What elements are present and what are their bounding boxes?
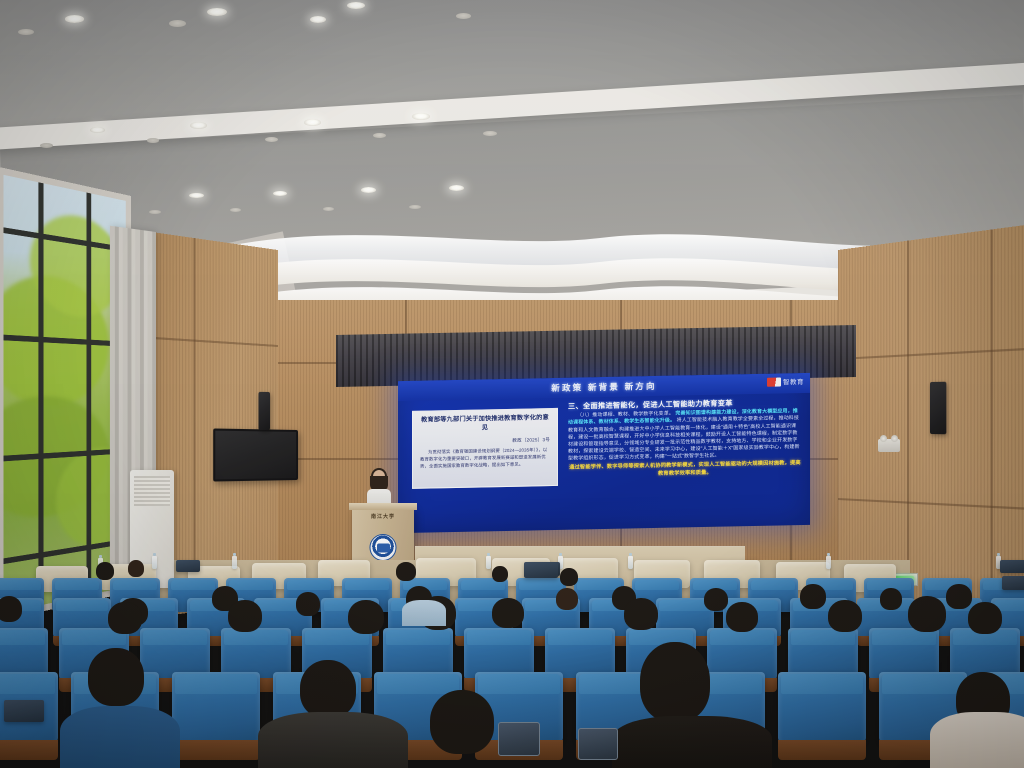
downlight-icon xyxy=(412,113,430,120)
seat-headrest xyxy=(55,580,99,590)
audience-head xyxy=(908,596,946,632)
seat-headrest xyxy=(781,674,863,694)
slide-document-card: 教育部等九部门关于加快推进教育数字化的意见 教政〔2025〕3号 为贯彻落实《教… xyxy=(412,408,558,489)
brand-mark-icon xyxy=(767,377,781,386)
downlight-icon xyxy=(323,207,334,211)
laptop xyxy=(1000,560,1024,573)
audience-head xyxy=(492,566,508,582)
downlight-icon xyxy=(169,20,186,27)
audience-head xyxy=(624,598,658,630)
podium-top xyxy=(349,503,417,510)
audience-head xyxy=(0,596,22,622)
seat-headrest xyxy=(224,630,288,645)
slide-text-column: 三、全面推进智能化，促进人工智能助力教育变革 （八）推动课程、教材、教学数字化变… xyxy=(568,397,802,524)
audience-head xyxy=(296,592,320,616)
seat-headrest xyxy=(791,630,855,645)
downlight-icon xyxy=(483,131,497,136)
seat-wood-frame xyxy=(172,740,260,760)
seat-headrest xyxy=(229,580,273,590)
audience-head xyxy=(946,584,972,609)
audience-head xyxy=(396,562,416,581)
seat-headrest xyxy=(386,630,450,645)
audience-head xyxy=(800,584,826,609)
downlight-icon xyxy=(310,16,326,23)
left-wall-speaker-icon xyxy=(259,392,270,430)
water-bottle-icon xyxy=(486,556,491,569)
university-seal-icon xyxy=(370,534,397,561)
audience-head xyxy=(430,690,494,754)
seat-headrest xyxy=(577,580,621,590)
seat-headrest xyxy=(872,630,936,645)
water-bottle-icon xyxy=(628,556,633,569)
document-title: 教育部等九部门关于加快推进教育数字化的意见 xyxy=(420,414,550,435)
audience-head xyxy=(640,642,710,722)
right-wall-speaker-icon xyxy=(930,382,946,435)
seat-headrest xyxy=(635,580,679,590)
seat-headrest xyxy=(0,580,41,590)
seat-headrest xyxy=(710,630,774,645)
audience-head xyxy=(88,648,144,706)
seat-headrest xyxy=(467,630,531,645)
laptop xyxy=(176,560,200,572)
seat-headrest xyxy=(377,674,459,694)
presentation-screen[interactable]: 新政策 新背景 新方向 智教育 教育部等九部门关于加快推进教育数字化的意见 教政… xyxy=(398,373,810,533)
audience-head xyxy=(128,560,144,577)
audience-shoulder xyxy=(930,712,1024,768)
seat-headrest xyxy=(519,580,563,590)
audience-head xyxy=(96,562,114,580)
water-bottle-icon xyxy=(826,556,831,569)
tablet-device xyxy=(498,722,540,756)
seat-headrest xyxy=(478,674,560,694)
audience-head xyxy=(726,602,758,632)
audience-head xyxy=(300,660,356,718)
seat-headrest xyxy=(345,580,389,590)
audience-head xyxy=(880,588,902,610)
section-footer-highlight: 通过智能学伴、数字导师等探索人机协同教学新模式，实现人工智能驱动的大规模因材施教… xyxy=(568,460,802,480)
audience-head xyxy=(348,600,384,634)
document-body: 为贯彻落实《教育强国建设规划纲要（2024—2035年）》，以教育数字化为重要突… xyxy=(420,447,550,470)
audience-head xyxy=(228,600,262,632)
seat-headrest xyxy=(0,674,55,694)
audience-head xyxy=(492,598,524,628)
water-bottle-icon xyxy=(152,556,157,569)
audience-head xyxy=(704,588,728,611)
banner-title: 新政策 新背景 新方向 xyxy=(551,380,656,394)
audience-shoulder xyxy=(258,712,408,768)
wall-tv-display[interactable] xyxy=(213,428,298,481)
tablet-device xyxy=(578,728,618,760)
seat-headrest xyxy=(751,580,795,590)
downlight-icon xyxy=(190,122,207,129)
downlight-icon xyxy=(456,13,471,19)
downlight-icon xyxy=(65,15,84,22)
seat-headrest xyxy=(882,674,964,694)
seat-headrest xyxy=(175,674,257,694)
seat-headrest xyxy=(56,600,108,611)
section-paragraph: （八）推动课程、教材、教学数字化变革。 完善知识图谱构建能力建设，深化教育大模型… xyxy=(568,408,802,462)
audience-shoulder xyxy=(612,716,772,768)
audience-head xyxy=(108,602,142,634)
seat-wood-frame xyxy=(778,740,866,760)
lecture-hall-photo: 新政策 新背景 新方向 智教育 教育部等九部门关于加快推进教育数字化的意见 教政… xyxy=(0,0,1024,768)
laptop xyxy=(524,562,558,578)
seat-wood-frame xyxy=(0,740,58,760)
ac-grill-icon xyxy=(134,476,170,506)
document-number: 教政〔2025〕3号 xyxy=(420,437,550,446)
audience-head xyxy=(560,568,578,586)
audience-shoulder xyxy=(60,706,180,768)
laptop xyxy=(1002,576,1024,590)
podium-nameplate: 南江大学 xyxy=(352,513,414,520)
audience-head xyxy=(968,602,1002,634)
water-bottle-icon xyxy=(232,556,237,569)
brand-logo-text: 智教育 xyxy=(783,376,804,386)
seat-headrest xyxy=(0,630,45,645)
downlight-icon xyxy=(147,138,160,143)
seat-headrest xyxy=(287,580,331,590)
downlight-icon xyxy=(207,8,226,16)
seat-headrest xyxy=(548,630,612,645)
seat-headrest xyxy=(171,580,215,590)
audience-head xyxy=(828,600,862,632)
laptop xyxy=(4,700,44,722)
audience-head xyxy=(556,588,578,610)
emergency-light-icon xyxy=(878,439,900,452)
seat-headrest xyxy=(143,630,207,645)
seat-headrest xyxy=(113,580,157,590)
brand-logo: 智教育 xyxy=(767,376,804,387)
audience-shoulder xyxy=(402,600,446,626)
